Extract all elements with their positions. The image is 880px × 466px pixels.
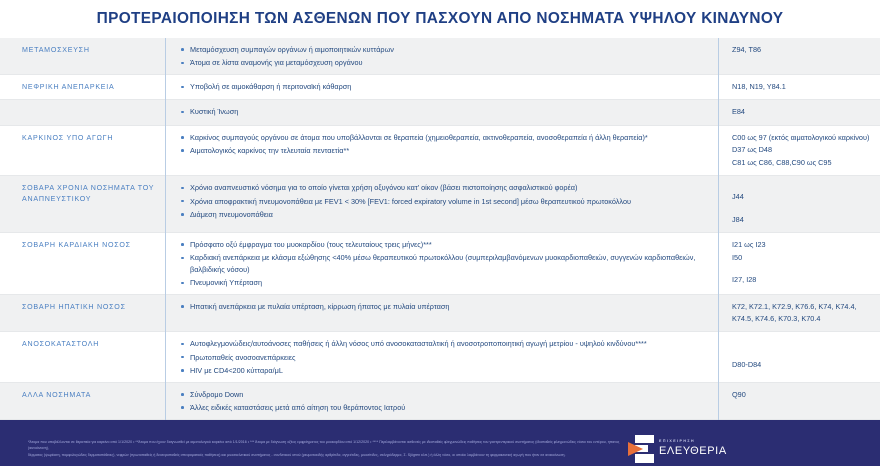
list-item: Υποβολή σε αιμοκάθαρση ή περιτοναϊκή κάθ…: [181, 81, 710, 93]
row-items: Μεταμόσχευση συμπαγών οργάνων ή αιμοποιη…: [165, 38, 718, 74]
row-items: Σύνδρομο Down Άλλες ειδικές καταστάσεις …: [165, 383, 718, 419]
footer-bar: *Άτομα που υποβάλλονται σε θεραπεία για …: [0, 420, 880, 466]
code-value: C00 ως 97 (εκτός αιματολογικού καρκίνου)…: [732, 132, 872, 156]
spacer: [732, 338, 872, 359]
list-item: Χρόνια αποφρακτική πνευμονοπάθεια με FEV…: [181, 196, 710, 208]
row-category: ΑΝΟΣΟΚΑΤΑΣΤΟΛΗ: [0, 332, 165, 356]
row-codes: C00 ως 97 (εκτός αιματολογικού καρκίνου)…: [718, 126, 880, 175]
spacer: [732, 265, 872, 274]
page-title: ΠΡΟΤΕΡΑΙΟΠΟΙΗΣΗ ΤΩΝ ΑΣΘΕΝΩΝ ΠΟΥ ΠΑΣΧΟΥΝ …: [97, 10, 784, 28]
footnote-line: *Άτομα που υποβάλλονται σε θεραπεία για …: [28, 439, 628, 451]
code-value: J84: [732, 214, 872, 226]
list-item: Μεταμόσχευση συμπαγών οργάνων ή αιμοποιη…: [181, 44, 710, 56]
row-category: ΑΛΛΑ ΝΟΣΗΜΑΤΑ: [0, 383, 165, 407]
row-codes: N18, N19, Y84.1: [718, 75, 880, 99]
footnote-line: δέρματος (ψωρίαση, πομφολυγώδεις δερματο…: [28, 452, 628, 458]
row-category: ΝΕΦΡΙΚΗ ΑΝΕΠΑΡΚΕΙΑ: [0, 75, 165, 99]
row-items: Καρκίνος συμπαγούς οργάνου σε άτομα που …: [165, 126, 718, 162]
row-codes: J44 J84: [718, 176, 880, 232]
document-page: ΠΡΟΤΕΡΑΙΟΠΟΙΗΣΗ ΤΩΝ ΑΣΘΕΝΩΝ ΠΟΥ ΠΑΣΧΟΥΝ …: [0, 0, 880, 466]
row-items: Υποβολή σε αιμοκάθαρση ή περιτοναϊκή κάθ…: [165, 75, 718, 98]
row-codes: Z94, T86: [718, 38, 880, 62]
code-value: N18, N19, Y84.1: [732, 81, 872, 93]
spacer: [732, 182, 872, 191]
table-row: ΣΟΒΑΡΗ ΚΑΡΔΙΑΚΗ ΝΟΣΟΣ Πρόσφατο οξύ έμφρα…: [0, 233, 880, 295]
row-category: [0, 100, 165, 113]
list-item: Πρωτοπαθείς ανοσοανεπάρκειες: [181, 352, 710, 364]
code-value: J44: [732, 191, 872, 203]
row-codes: E84: [718, 100, 880, 124]
logo-kicker: ΕΠΙΧΕΙΡΗΣΗ: [659, 440, 727, 444]
row-items: Κυστική Ίνωση: [165, 100, 718, 123]
list-item: Καρδιακή ανεπάρκεια με κλάσμα εξώθησης <…: [181, 252, 710, 276]
footnotes: *Άτομα που υποβάλλονται σε θεραπεία για …: [28, 439, 628, 458]
table-row: ΣΟΒΑΡΗ ΗΠΑΤΙΚΗ ΝΟΣΟΣ Ηπατική ανεπάρκεια …: [0, 295, 880, 332]
list-item: Διάμεση πνευμονοπάθεια: [181, 209, 710, 221]
table-row: ΚΑΡΚΙΝΟΣ ΥΠΟ ΑΓΩΓΗ Καρκίνος συμπαγούς ορ…: [0, 126, 880, 176]
list-item: Ηπατική ανεπάρκεια με πυλαία υπέρταση, κ…: [181, 301, 710, 313]
list-item: HIV με CD4<200 κύτταρα/μL: [181, 365, 710, 377]
row-codes: K72, K72.1, K72.9, K76.6, K74, K74.4, K7…: [718, 295, 880, 331]
list-item: Αυτοφλεγμονώδεις/αυτοάνοσες παθήσεις ή ά…: [181, 338, 710, 350]
table-row: ΣΟΒΑΡΑ ΧΡΟΝΙΑ ΝΟΣΗΜΑΤΑ ΤΟΥ ΑΝΑΠΝΕΥΣΤΙΚΟΥ…: [0, 176, 880, 233]
row-items: Αυτοφλεγμονώδεις/αυτοάνοσες παθήσεις ή ά…: [165, 332, 718, 381]
row-codes: Q90: [718, 383, 880, 407]
brand-logo: ΕΠΙΧΕΙΡΗΣΗ ΕΛΕΥΘΕΡΙΑ: [628, 435, 727, 463]
row-category: ΣΟΒΑΡΗ ΚΑΡΔΙΑΚΗ ΝΟΣΟΣ: [0, 233, 165, 257]
code-value: K72, K72.1, K72.9, K76.6, K74, K74.4, K7…: [732, 301, 872, 325]
list-item: Σύνδρομο Down: [181, 389, 710, 401]
code-value: C81 ως C86, C88,C90 ως C95: [732, 157, 872, 169]
logo-mark-icon: [628, 435, 654, 463]
list-item: Πρόσφατο οξύ έμφραγμα του μυοκαρδίου (το…: [181, 239, 710, 251]
table-row: ΑΛΛΑ ΝΟΣΗΜΑΤΑ Σύνδρομο Down Άλλες ειδικέ…: [0, 383, 880, 420]
code-value: Q90: [732, 389, 872, 401]
code-value: D80-D84: [732, 359, 872, 371]
row-category: ΜΕΤΑΜΟΣΧΕΥΣΗ: [0, 38, 165, 62]
list-item: Καρκίνος συμπαγούς οργάνου σε άτομα που …: [181, 132, 710, 144]
spacer: [732, 205, 872, 214]
logo-text: ΕΠΙΧΕΙΡΗΣΗ ΕΛΕΥΘΕΡΙΑ: [659, 440, 727, 457]
row-codes: D80-D84: [718, 332, 880, 377]
code-value: E84: [732, 106, 872, 118]
code-value: I50: [732, 252, 872, 264]
list-item: Πνευμονική Υπέρταση: [181, 277, 710, 289]
list-item: Χρόνιο αναπνευστικό νόσημα για το οποίο …: [181, 182, 710, 194]
row-category: ΣΟΒΑΡΑ ΧΡΟΝΙΑ ΝΟΣΗΜΑΤΑ ΤΟΥ ΑΝΑΠΝΕΥΣΤΙΚΟΥ: [0, 176, 165, 211]
row-codes: I21 ως I23 I50 I27, I28: [718, 233, 880, 293]
row-items: Χρόνιο αναπνευστικό νόσημα για το οποίο …: [165, 176, 718, 225]
list-item: Άτομα σε λίστα αναμονής για μεταμόσχευση…: [181, 57, 710, 69]
list-item: Κυστική Ίνωση: [181, 106, 710, 118]
row-items: Ηπατική ανεπάρκεια με πυλαία υπέρταση, κ…: [165, 295, 718, 318]
row-category: ΚΑΡΚΙΝΟΣ ΥΠΟ ΑΓΩΓΗ: [0, 126, 165, 150]
table-row: ΑΝΟΣΟΚΑΤΑΣΤΟΛΗ Αυτοφλεγμονώδεις/αυτοάνοσ…: [0, 332, 880, 382]
title-bar: ΠΡΟΤΕΡΑΙΟΠΟΙΗΣΗ ΤΩΝ ΑΣΘΕΝΩΝ ΠΟΥ ΠΑΣΧΟΥΝ …: [0, 0, 880, 38]
table-row: ΜΕΤΑΜΟΣΧΕΥΣΗ Μεταμόσχευση συμπαγών οργάν…: [0, 38, 880, 75]
table-row: Κυστική Ίνωση E84: [0, 100, 880, 125]
row-category: ΣΟΒΑΡΗ ΗΠΑΤΙΚΗ ΝΟΣΟΣ: [0, 295, 165, 319]
row-items: Πρόσφατο οξύ έμφραγμα του μυοκαρδίου (το…: [165, 233, 718, 294]
code-value: I27, I28: [732, 274, 872, 286]
code-value: Z94, T86: [732, 44, 872, 56]
list-item: Άλλες ειδικές καταστάσεις μετά από αίτησ…: [181, 402, 710, 414]
logo-name: ΕΛΕΥΘΕΡΙΑ: [659, 445, 727, 457]
priority-table: ΜΕΤΑΜΟΣΧΕΥΣΗ Μεταμόσχευση συμπαγών οργάν…: [0, 38, 880, 420]
table-row: ΝΕΦΡΙΚΗ ΑΝΕΠΑΡΚΕΙΑ Υποβολή σε αιμοκάθαρσ…: [0, 75, 880, 100]
logo-triangle-icon: [628, 442, 643, 456]
code-value: I21 ως I23: [732, 239, 872, 251]
list-item: Αιματολογικός καρκίνος την τελευταία πεν…: [181, 145, 710, 157]
